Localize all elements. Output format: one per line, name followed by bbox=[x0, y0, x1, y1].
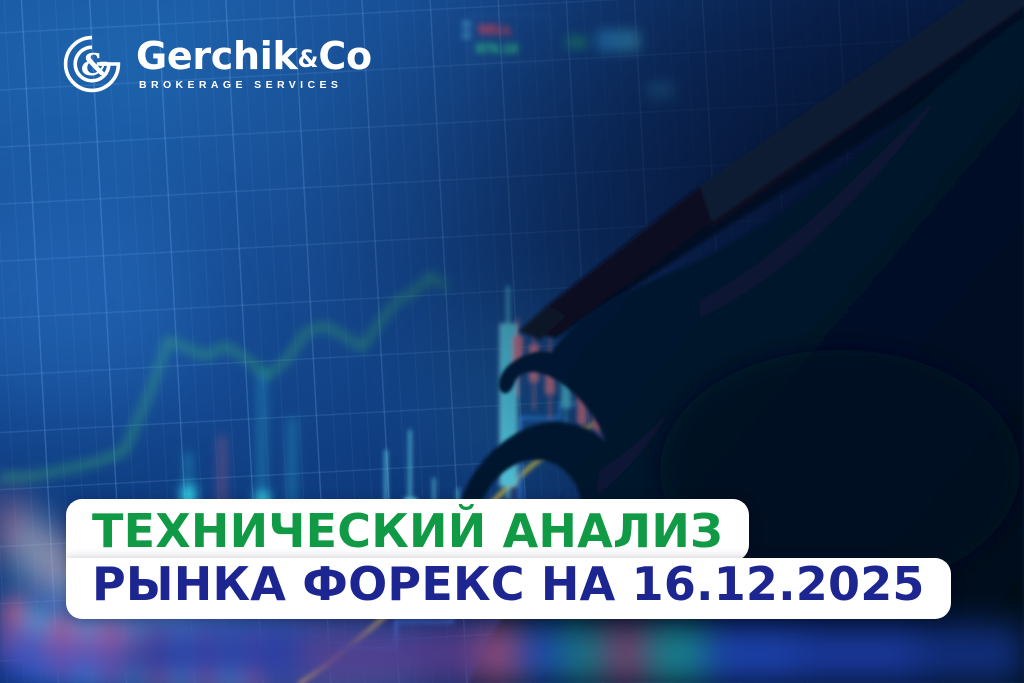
bottom-blurred-strip bbox=[0, 625, 1024, 683]
title-line-2: РЫНКА ФОРЕКС НА 16.12.2025 bbox=[92, 561, 925, 608]
title-block: ТЕХНИЧЕСКИЙ АНАЛИЗ РЫНКА ФОРЕКС НА 16.12… bbox=[66, 499, 1024, 619]
svg-text:&: & bbox=[81, 48, 108, 83]
title-banner-bottom: РЫНКА ФОРЕКС НА 16.12.2025 bbox=[66, 558, 951, 619]
brand-tagline: BROKERAGE SERVICES bbox=[136, 79, 372, 91]
brand-logo[interactable]: & Gerchik&Co BROKERAGE SERVICES bbox=[62, 34, 372, 94]
poster-canvas: SELL 979.18 bbox=[0, 0, 1024, 683]
brand-name-main: Gerchik bbox=[136, 34, 297, 78]
brand-ampersand: & bbox=[297, 45, 318, 73]
brand-wordmark: Gerchik&Co BROKERAGE SERVICES bbox=[136, 37, 372, 91]
brand-name-suffix: Co bbox=[318, 34, 371, 78]
brand-name: Gerchik&Co bbox=[136, 37, 372, 75]
title-line-1: ТЕХНИЧЕСКИЙ АНАЛИЗ bbox=[92, 508, 723, 555]
gerchik-circle-ampersand-logo-icon: & bbox=[62, 34, 122, 94]
title-banner-top: ТЕХНИЧЕСКИЙ АНАЛИЗ bbox=[66, 499, 749, 561]
